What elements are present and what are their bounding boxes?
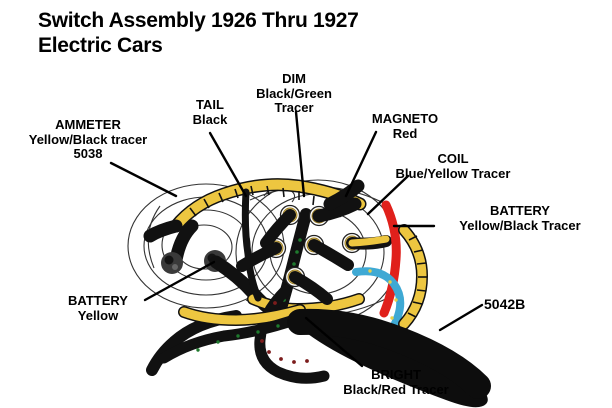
label-harness-part-number: 5042B <box>484 297 525 312</box>
terminal-lug-yellow <box>352 239 386 243</box>
label-battery-left: BATTERY Yellow <box>44 294 152 323</box>
label-dim: DIM Black/Green Tracer <box>246 72 342 116</box>
wire-battery-yellow-black-right <box>404 230 427 324</box>
label-magneto: MAGNETO Red <box>356 112 454 141</box>
leader-ammeter <box>111 163 176 196</box>
leader-5042b <box>440 305 482 330</box>
label-tail: TAIL Black <box>168 98 252 127</box>
label-bright: BRIGHT Black/Red Tracer <box>306 368 486 397</box>
lock-post-upper <box>161 252 183 274</box>
label-ammeter: AMMETER Yellow/Black tracer 5038 <box>8 118 168 162</box>
label-battery-right: BATTERY Yellow/Black Tracer <box>432 204 608 233</box>
label-coil: COIL Blue/Yellow Tracer <box>358 152 548 181</box>
diagram-canvas: Switch Assembly 1926 Thru 1927 Electric … <box>0 0 612 408</box>
wire-magneto-red <box>384 205 396 313</box>
